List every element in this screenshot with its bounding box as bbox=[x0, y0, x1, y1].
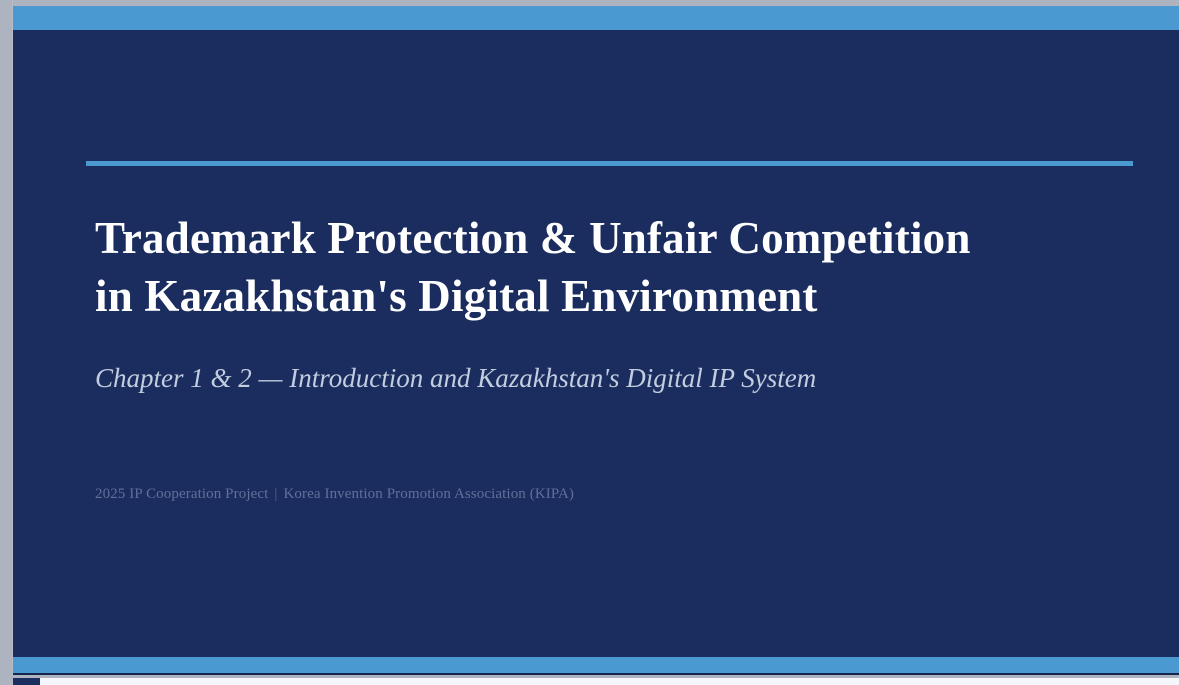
slide-footer: 2025 IP Cooperation Project|Korea Invent… bbox=[95, 484, 1133, 505]
slide-title: Trademark Protection & Unfair Competitio… bbox=[95, 210, 1133, 325]
next-slide-preview[interactable] bbox=[13, 678, 1179, 685]
slide-subtitle: Chapter 1 & 2 — Introduction and Kazakhs… bbox=[95, 361, 1133, 396]
footer-project-label: 2025 IP Cooperation Project bbox=[95, 486, 268, 502]
slide-content: Trademark Protection & Unfair Competitio… bbox=[82, 161, 1133, 505]
next-slide-corner-accent bbox=[13, 678, 40, 685]
title-slide[interactable]: Trademark Protection & Unfair Competitio… bbox=[13, 6, 1179, 676]
presentation-viewer: Trademark Protection & Unfair Competitio… bbox=[0, 0, 1179, 685]
slide-top-accent-band bbox=[13, 6, 1179, 30]
viewer-left-gutter bbox=[0, 0, 13, 685]
title-accent-rule bbox=[86, 161, 1133, 166]
slide-bottom-accent-band bbox=[13, 657, 1179, 673]
footer-separator: | bbox=[268, 486, 283, 502]
footer-organization-label: Korea Invention Promotion Association (K… bbox=[283, 486, 573, 502]
